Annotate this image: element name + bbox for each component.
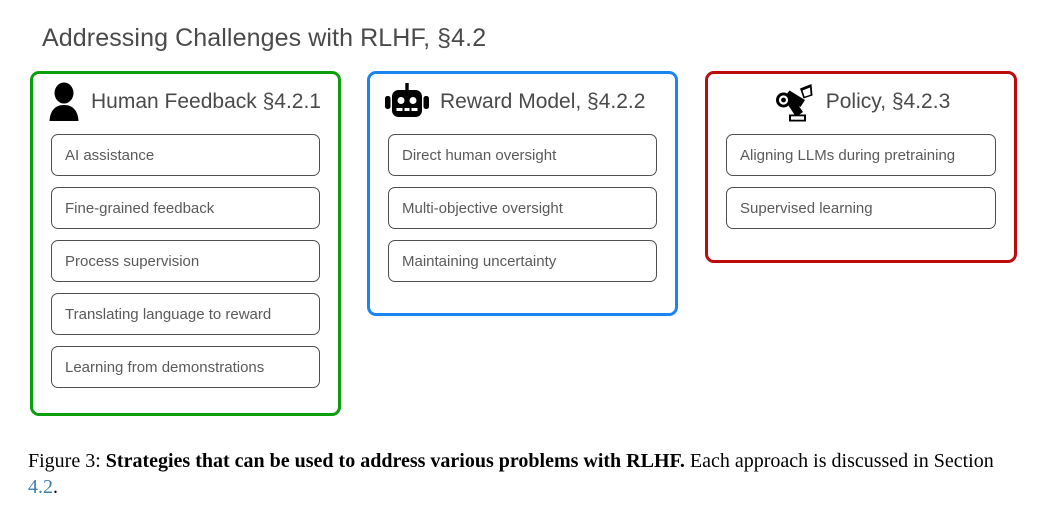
robot-arm-icon xyxy=(772,81,816,123)
category-box-reward-model: Reward Model, §4.2.2 Direct human oversi… xyxy=(367,71,678,316)
list-item[interactable]: AI assistance xyxy=(51,134,320,176)
caption-middle: Each approach is discussed in Section xyxy=(685,450,994,472)
list-item[interactable]: Multi-objective oversight xyxy=(388,187,657,229)
caption-section-link[interactable]: 4.2 xyxy=(28,476,53,498)
list-item[interactable]: Maintaining uncertainty xyxy=(388,240,657,282)
list-item[interactable]: Direct human oversight xyxy=(388,134,657,176)
page-title: Addressing Challenges with RLHF, §4.2 xyxy=(42,24,486,53)
list-item[interactable]: Fine-grained feedback xyxy=(51,187,320,229)
strategy-list-human-feedback: AI assistance Fine-grained feedback Proc… xyxy=(33,130,338,388)
list-item[interactable]: Translating language to reward xyxy=(51,293,320,335)
list-item[interactable]: Supervised learning xyxy=(726,187,996,229)
strategy-list-policy: Aligning LLMs during pretraining Supervi… xyxy=(708,130,1014,229)
category-title-human-feedback: Human Feedback §4.2.1 xyxy=(91,90,321,114)
category-box-human-feedback: Human Feedback §4.2.1 AI assistance Fine… xyxy=(30,71,341,416)
category-box-policy: Policy, §4.2.3 Aligning LLMs during pret… xyxy=(705,71,1017,263)
person-icon xyxy=(47,82,81,122)
category-title-reward-model: Reward Model, §4.2.2 xyxy=(440,90,645,114)
figure-caption: Figure 3: Strategies that can be used to… xyxy=(28,448,1022,500)
strategy-list-reward-model: Direct human oversight Multi-objective o… xyxy=(370,130,675,282)
caption-suffix: . xyxy=(53,476,58,498)
category-header-reward-model: Reward Model, §4.2.2 xyxy=(370,74,675,130)
list-item[interactable]: Aligning LLMs during pretraining xyxy=(726,134,996,176)
list-item[interactable]: Process supervision xyxy=(51,240,320,282)
list-item[interactable]: Learning from demonstrations xyxy=(51,346,320,388)
category-header-policy: Policy, §4.2.3 xyxy=(708,74,1014,130)
category-title-policy: Policy, §4.2.3 xyxy=(826,90,951,114)
category-header-human-feedback: Human Feedback §4.2.1 xyxy=(33,74,338,130)
robot-icon xyxy=(384,82,430,122)
caption-bold-title: Strategies that can be used to address v… xyxy=(106,450,685,472)
caption-prefix: Figure 3: xyxy=(28,450,106,472)
